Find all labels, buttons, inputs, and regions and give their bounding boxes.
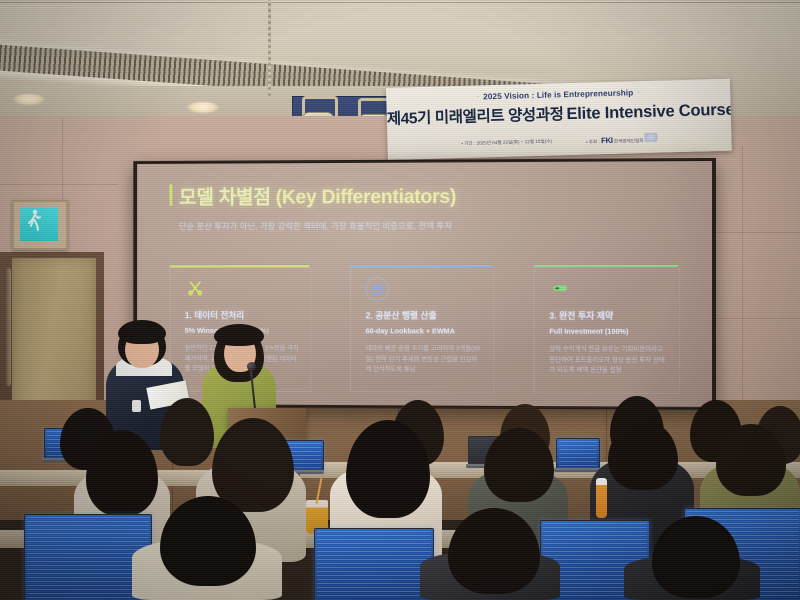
presenter-hair-top (214, 324, 264, 346)
wall-panel-line (716, 318, 800, 319)
wall-panel-line (742, 146, 743, 406)
door-handle[interactable] (6, 268, 11, 386)
banner-period: • 기간 : 2025년 04월 22일(화) ~ 12월 10일(수) (461, 138, 552, 146)
banner-footer: • 기간 : 2025년 04월 22일(화) ~ 12월 10일(수) • 주… (387, 131, 731, 151)
wall-panel-line (716, 232, 800, 233)
hanging-cable (268, 0, 271, 96)
running-person-icon (26, 209, 42, 231)
presenter-hair-top (118, 320, 166, 344)
event-banner: ·2025 Vision : Life is Entrepreneurship·… (386, 79, 732, 160)
podium-top (224, 402, 310, 411)
banner-title-ko: 제45기 미래엘리트 양성과정 (387, 106, 564, 128)
banner-dot-right: · (637, 90, 639, 96)
microphone-icon (247, 362, 256, 371)
banner-host-name: 한국경제인협회 (614, 138, 644, 144)
ceiling-downlight (12, 94, 46, 106)
banner-kicker-text: 2025 Vision : Life is Entrepreneurship (483, 88, 633, 101)
emergency-exit-sign (12, 200, 68, 250)
ceiling-downlight (186, 102, 220, 114)
water-bottle (596, 478, 607, 518)
lecture-hall-photo: ·2025 Vision : Life is Entrepreneurship·… (0, 0, 800, 600)
ceiling-seam (0, 2, 800, 3)
banner-host: • 주최 : FKI 한국경제인협회 (586, 133, 658, 146)
name-badge (132, 400, 141, 412)
fki-logo: FKI (601, 136, 613, 145)
banner-host-label: • 주최 : (586, 139, 600, 144)
banner-title-en: Elite Intensive Course (566, 101, 732, 124)
seal-logo-icon (644, 133, 657, 142)
wall-panel-line (0, 184, 118, 185)
banner-dot-left: · (477, 94, 479, 100)
